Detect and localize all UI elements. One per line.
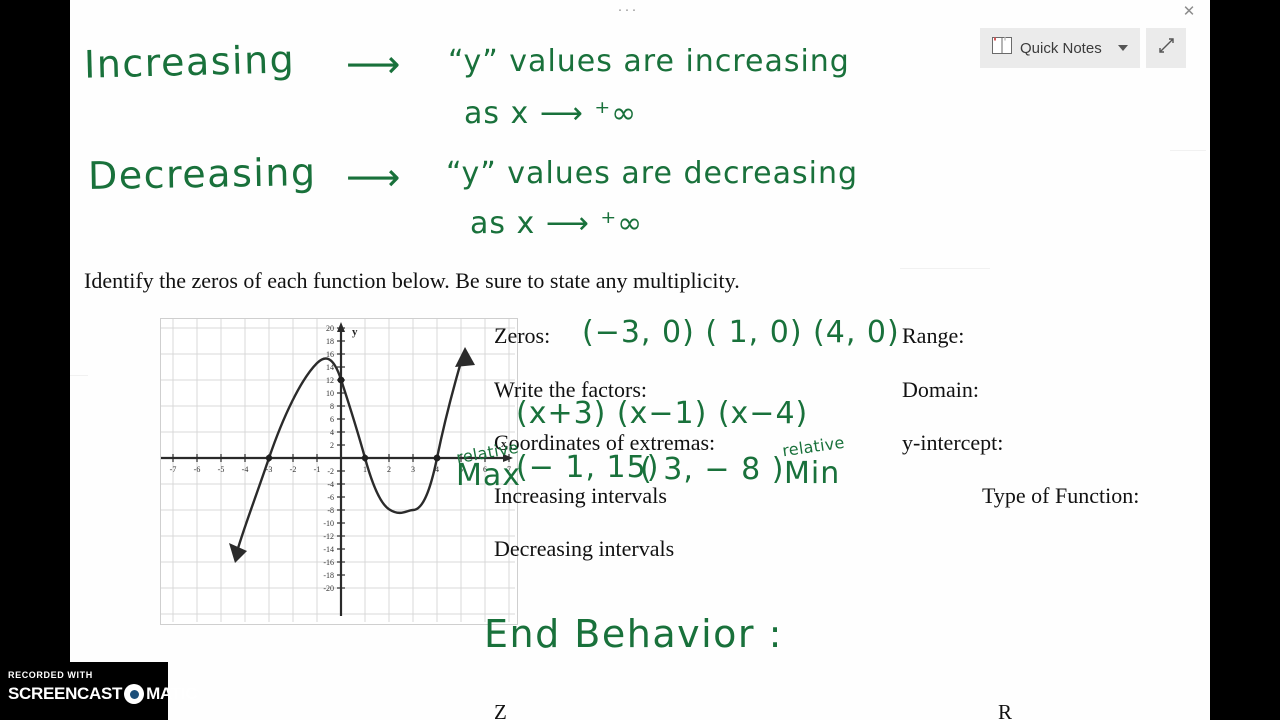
svg-text:2: 2	[387, 465, 391, 474]
notebook-icon	[992, 37, 1012, 59]
note-increasing-arrow-icon: ⟶	[346, 42, 402, 86]
decreasing-intervals-label: Decreasing intervals	[494, 536, 674, 562]
screencast-o-matic-watermark: RECORDED WITH SCREENCAST MATIC	[0, 662, 168, 720]
svg-text:-18: -18	[323, 571, 334, 580]
svg-text:-8: -8	[327, 506, 334, 515]
svg-text:18: 18	[326, 337, 334, 346]
y-intercept-label: y-intercept:	[902, 430, 1003, 456]
svg-text:-5: -5	[218, 465, 225, 474]
quick-notes-label: Quick Notes	[1020, 40, 1110, 57]
cut-letter-right: R	[998, 700, 1012, 720]
svg-text:-7: -7	[170, 465, 177, 474]
watermark-brand: SCREENCAST MATIC	[8, 684, 197, 704]
svg-text:3: 3	[411, 465, 415, 474]
type-of-function-label: Type of Function:	[982, 483, 1139, 509]
more-options-icon[interactable]: ···	[608, 2, 648, 22]
svg-text:-2: -2	[290, 465, 297, 474]
paper-artifact	[70, 375, 88, 376]
domain-label: Domain:	[902, 377, 979, 403]
letterbox-bar-right	[1210, 0, 1280, 720]
note-decreasing-definition-line1: “y” values are decreasing	[446, 156, 858, 191]
svg-text:y: y	[352, 326, 358, 338]
svg-text:2: 2	[330, 441, 334, 450]
paper-artifact	[900, 268, 990, 269]
note-decreasing-definition-line2: as x ⟶ ⁺∞	[470, 206, 643, 241]
watermark-brand-b: MATIC	[146, 684, 197, 704]
expand-button[interactable]	[1146, 28, 1186, 68]
range-label: Range:	[902, 323, 964, 349]
svg-text:8: 8	[330, 402, 334, 411]
zeros-answer: (−3, 0) ( 1, 0) (4, 0)	[582, 315, 900, 350]
note-increasing-term: Increasing	[83, 37, 295, 87]
relative-min-value: ( 3, − 8 )	[640, 452, 784, 487]
svg-text:-20: -20	[323, 584, 334, 593]
end-behavior-label: End Behavior :	[484, 612, 783, 656]
zeros-label: Zeros:	[494, 323, 550, 349]
svg-text:-6: -6	[194, 465, 201, 474]
cut-letter-left: Z	[494, 700, 507, 720]
paper-artifact	[1170, 150, 1206, 151]
quick-notes-dropdown[interactable]: Quick Notes	[980, 28, 1140, 68]
svg-text:6: 6	[330, 415, 334, 424]
svg-text:-2: -2	[327, 467, 334, 476]
watermark-brand-a: SCREENCAST	[8, 684, 122, 704]
svg-text:-1: -1	[314, 465, 321, 474]
note-increasing-definition-line1: “y” values are increasing	[448, 44, 850, 79]
svg-text:10: 10	[326, 389, 334, 398]
note-increasing-definition-line2: as x ⟶ ⁺∞	[464, 96, 637, 131]
target-dot-icon	[124, 684, 144, 704]
svg-text:20: 20	[326, 324, 334, 333]
svg-text:12: 12	[326, 376, 334, 385]
svg-text:-6: -6	[327, 493, 334, 502]
svg-text:-4: -4	[242, 465, 249, 474]
onenote-page: ··· ✕ Quick Notes	[70, 0, 1210, 720]
letterbox-bar-left	[0, 0, 70, 720]
chevron-down-icon[interactable]	[1118, 45, 1128, 51]
note-decreasing-arrow-icon: ⟶	[346, 155, 402, 199]
svg-text:-12: -12	[323, 532, 334, 541]
expand-diagonal-icon	[1158, 37, 1175, 59]
note-decreasing-term: Decreasing	[88, 150, 317, 198]
svg-text:-14: -14	[323, 545, 334, 554]
svg-text:4: 4	[330, 428, 334, 437]
relative-max-value: (− 1, 15)	[516, 450, 659, 485]
watermark-recorded-with: RECORDED WITH	[8, 670, 93, 680]
factors-answer: (x+3) (x−1) (x−4)	[516, 396, 808, 431]
worksheet-prompt: Identify the zeros of each function belo…	[84, 268, 740, 294]
screen-recording-frame: ··· ✕ Quick Notes	[0, 0, 1280, 720]
svg-text:-10: -10	[323, 519, 334, 528]
relative-min-word: Min	[784, 456, 840, 491]
svg-text:-4: -4	[327, 480, 334, 489]
increasing-intervals-label: Increasing intervals	[494, 483, 667, 509]
svg-text:-16: -16	[323, 558, 334, 567]
close-icon[interactable]: ✕	[1178, 2, 1200, 22]
